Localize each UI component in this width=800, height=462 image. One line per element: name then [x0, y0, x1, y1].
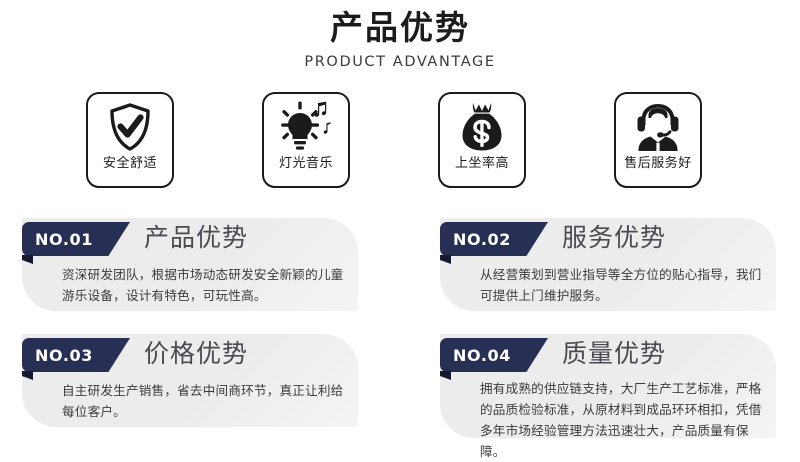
- badge-number: NO.04: [453, 346, 511, 365]
- badge-number: NO.01: [35, 230, 93, 249]
- badge-fold-tab: [22, 371, 33, 380]
- badge-shape: NO.04: [440, 338, 548, 372]
- advantage-title: 质量优势: [562, 337, 666, 371]
- advantage-number-badge: NO.01: [22, 222, 130, 256]
- advantage-number-badge: NO.03: [22, 338, 130, 372]
- badge-shape: NO.03: [22, 338, 130, 372]
- advantage-card[interactable]: NO.04 质量优势 拥有成熟的供应链支持，大厂生产工艺标准，严格的品质检验标准…: [440, 334, 776, 438]
- advantage-body: 资深研发团队，根据市场动态研发安全新颖的儿童游乐设备，设计有特色，可玩性高。: [62, 264, 344, 306]
- advantage-card[interactable]: NO.02 服务优势 从经营策划到营业指导等全方位的贴心指导，我们可提供上门维护…: [440, 218, 776, 311]
- badge-fold-tab: [22, 255, 33, 264]
- badge-fold-tab: [440, 255, 451, 264]
- advantage-body: 自主研发生产销售，省去中间商环节，真正让利给每位客户。: [62, 380, 344, 422]
- badge-number: NO.03: [35, 346, 93, 365]
- badge-shape: NO.02: [440, 222, 548, 256]
- advantage-card[interactable]: NO.01 产品优势 资深研发团队，根据市场动态研发安全新颖的儿童游乐设备，设计…: [22, 218, 358, 311]
- advantage-number-badge: NO.04: [440, 338, 548, 372]
- advantage-title: 服务优势: [562, 221, 666, 255]
- advantage-title: 价格优势: [144, 337, 248, 371]
- badge-shape: NO.01: [22, 222, 130, 256]
- advantage-body: 从经营策划到营业指导等全方位的贴心指导，我们可提供上门维护服务。: [480, 264, 762, 306]
- advantage-title: 产品优势: [144, 221, 248, 255]
- advantage-body: 拥有成熟的供应链支持，大厂生产工艺标准，严格的品质检验标准，从原材料到成品环环相…: [480, 378, 766, 462]
- advantage-number-badge: NO.02: [440, 222, 548, 256]
- badge-number: NO.02: [453, 230, 511, 249]
- advantage-card[interactable]: NO.03 价格优势 自主研发生产销售，省去中间商环节，真正让利给每位客户。: [22, 334, 358, 427]
- advantage-card-grid: NO.01 产品优势 资深研发团队，根据市场动态研发安全新颖的儿童游乐设备，设计…: [0, 0, 800, 449]
- badge-fold-tab: [440, 371, 451, 380]
